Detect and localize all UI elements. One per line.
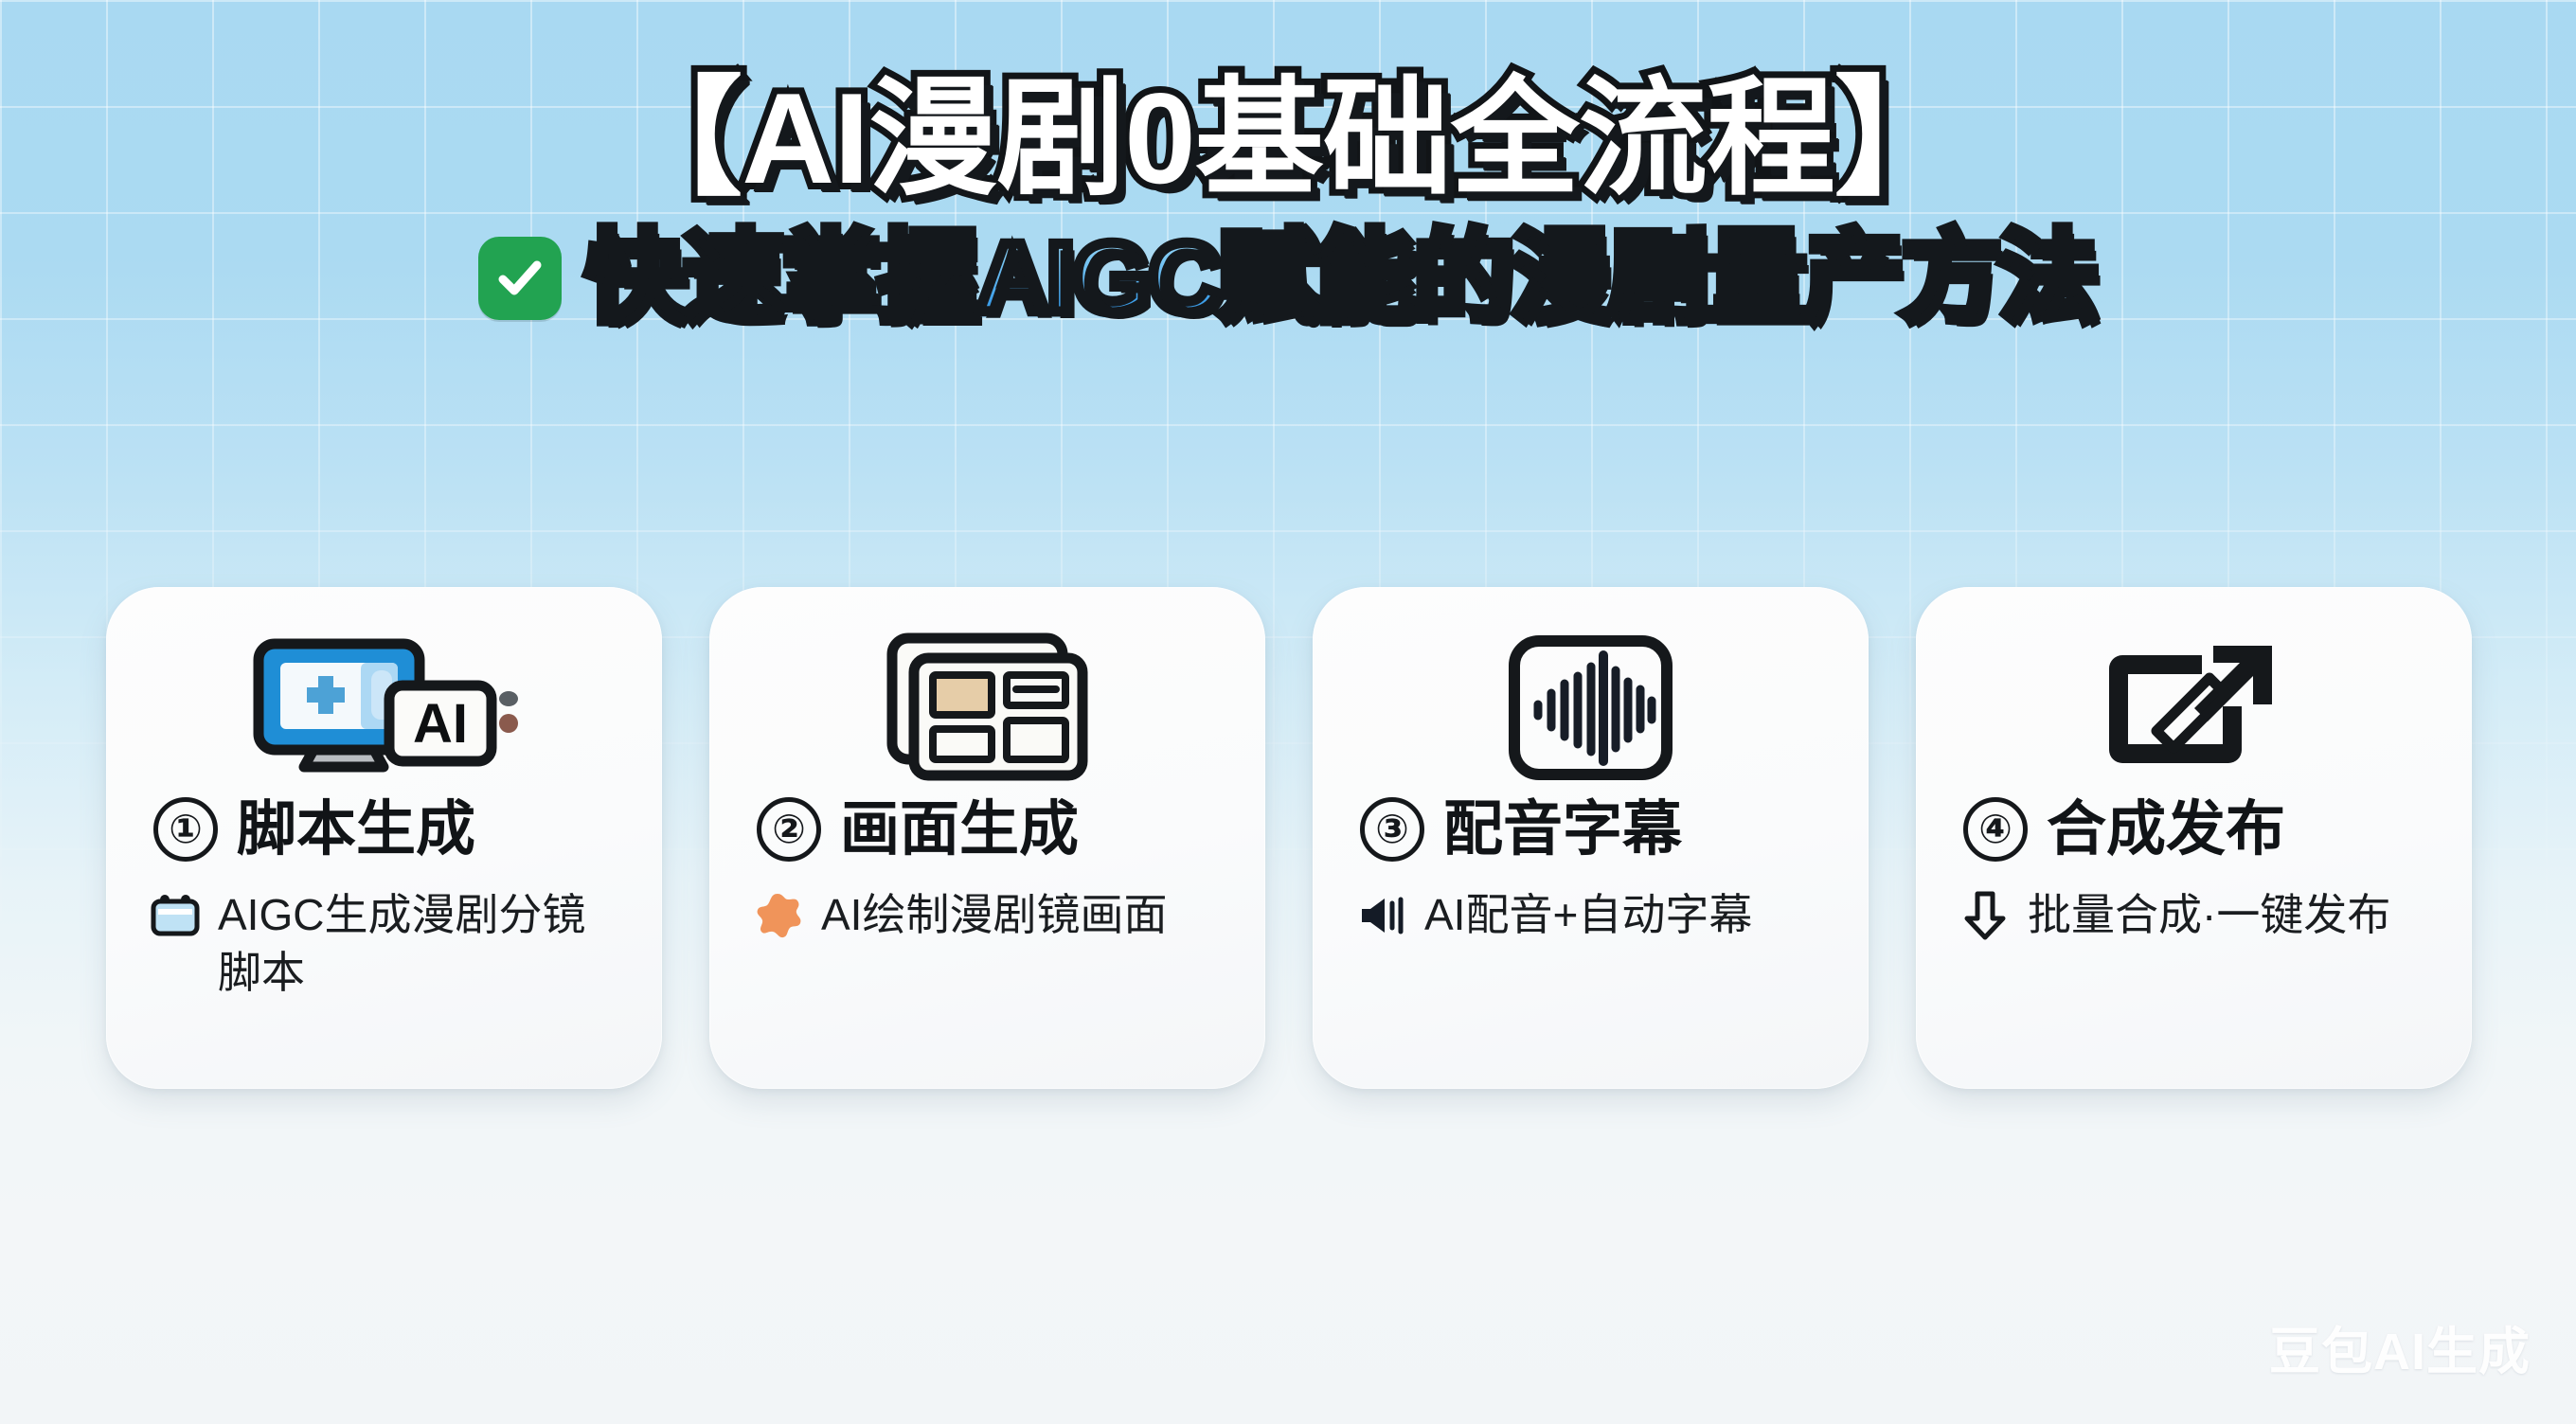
- speaker-icon: [1356, 890, 1407, 941]
- step-card-4-description: 批量合成·一键发布: [1959, 886, 2390, 944]
- audio-waveform-icon: [1508, 636, 1673, 778]
- step-card-1-description: AIGC生成漫剧分镜脚本: [150, 886, 597, 1001]
- poster-canvas: 【AI漫剧0基础全流程】 快速掌握AIGC赋能的漫剧量产方法: [0, 0, 2576, 1424]
- step-card-3[interactable]: ③ 配音字幕 AI配音+自动字幕: [1313, 587, 1869, 1089]
- subtitle-row: 快速掌握AIGC赋能的漫剧量产方法: [0, 229, 2576, 328]
- step-title: 配音字幕: [1443, 800, 1682, 860]
- step-number-badge: ①: [153, 797, 218, 862]
- step-card-1[interactable]: AI ① 脚本生成 AI: [106, 587, 662, 1089]
- page-title: 【AI漫剧0基础全流程】: [0, 74, 2576, 203]
- step-card-1-header: ① 脚本生成: [153, 797, 475, 862]
- svg-text:AI: AI: [413, 693, 468, 755]
- page-subtitle: 快速掌握AIGC赋能的漫剧量产方法: [586, 229, 2097, 328]
- step-description: AIGC生成漫剧分镜脚本: [218, 886, 597, 1001]
- step-card-3-header: ③ 配音字幕: [1360, 797, 1682, 862]
- step-card-4-header: ④ 合成发布: [1963, 797, 2285, 862]
- steps-card-row: AI ① 脚本生成 AI: [106, 587, 2474, 1089]
- step-title: 合成发布: [2047, 800, 2285, 860]
- headline-block: 【AI漫剧0基础全流程】 快速掌握AIGC赋能的漫剧量产方法: [0, 74, 2576, 328]
- step-description: 批量合成·一键发布: [2028, 886, 2390, 944]
- step-card-2-description: AI绘制漫剧镜画面: [753, 886, 1167, 944]
- step-description: AI配音+自动字幕: [1424, 886, 1752, 944]
- step-number-badge: ③: [1360, 797, 1424, 862]
- step-card-2[interactable]: ② 画面生成 AI绘制漫剧镜画面: [709, 587, 1265, 1089]
- clipboard-icon: [150, 890, 201, 941]
- layout-grid-icon: [885, 636, 1089, 778]
- step-description: AI绘制漫剧镜画面: [821, 886, 1167, 944]
- step-card-2-header: ② 画面生成: [757, 797, 1079, 862]
- step-title: 脚本生成: [237, 800, 475, 860]
- export-arrow-icon: [2102, 636, 2286, 778]
- check-badge: [478, 237, 562, 320]
- watermark-label: 豆包AI生成: [2269, 1309, 2531, 1384]
- step-card-4[interactable]: ④ 合成发布 批量合成·一键发布: [1916, 587, 2472, 1089]
- monitor-ai-icon: AI: [247, 636, 522, 778]
- check-icon: [493, 252, 546, 305]
- step-title: 画面生成: [840, 800, 1079, 860]
- down-arrow-icon: [1959, 890, 2011, 941]
- paint-splat-icon: [753, 890, 804, 941]
- step-card-3-description: AI配音+自动字幕: [1356, 886, 1752, 944]
- step-number-badge: ④: [1963, 797, 2028, 862]
- step-number-badge: ②: [757, 797, 821, 862]
